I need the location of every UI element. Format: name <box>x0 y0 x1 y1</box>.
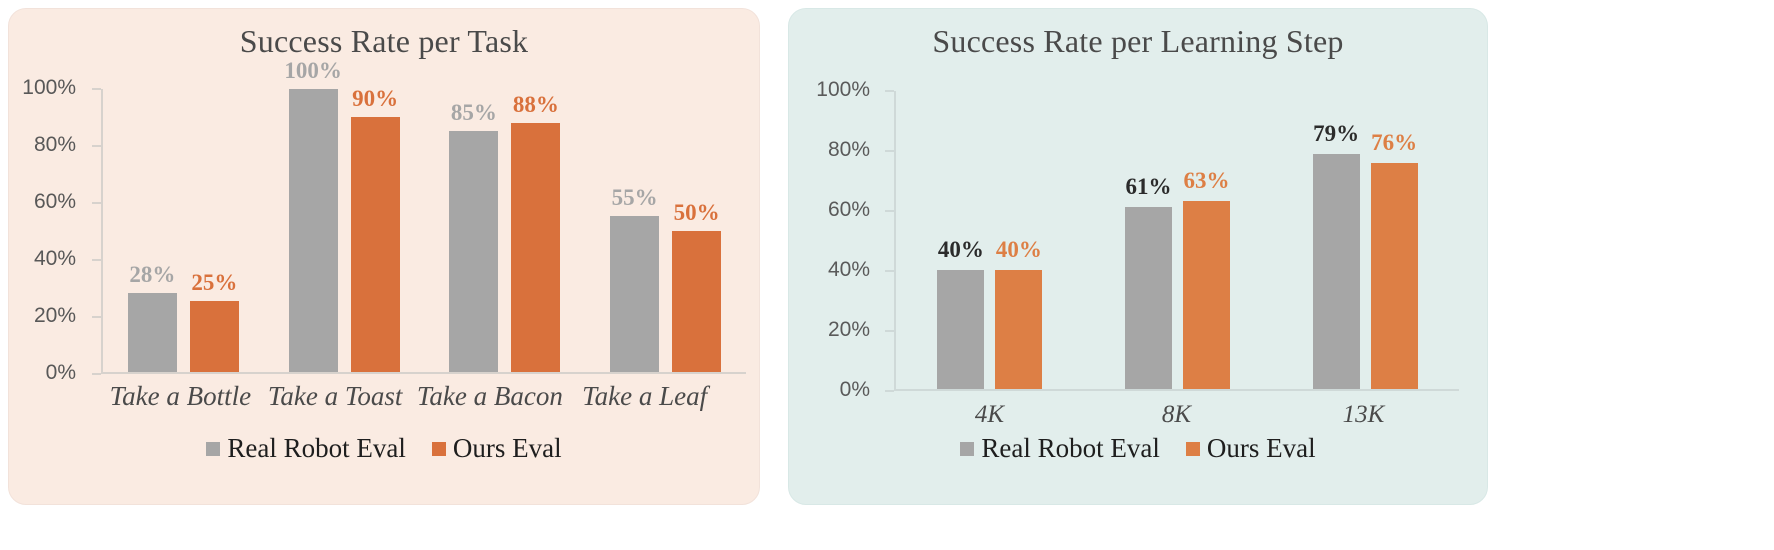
bar-ours-2-right[interactable]: 76% <box>1371 163 1418 389</box>
x-category-labels-right: 4K 8K 13K <box>896 401 1457 429</box>
charts-board: Success Rate per Task 0% 20% 40% 60% 80%… <box>0 0 1774 550</box>
y-tick-label-left-80: 80% <box>34 133 76 157</box>
bar-group-take-a-bacon: 85% 88% <box>425 89 586 372</box>
y-tick-label-left-20: 20% <box>34 304 76 328</box>
legend-right: Real Robot Eval Ours Eval <box>789 433 1487 464</box>
legend-item-ours-eval[interactable]: Ours Eval <box>1186 433 1316 464</box>
plot-area-right: 0% 20% 40% 60% 80% 100% 40% <box>894 91 1459 391</box>
y-tick-right-80: 80% <box>885 150 894 152</box>
bar-group-13k: 79% 76% <box>1271 91 1459 389</box>
y-tick-label-right-0: 0% <box>840 378 870 402</box>
bar-value-label: 85% <box>451 101 497 124</box>
bar-real-0-left[interactable]: 28% <box>128 293 177 372</box>
y-tick-label-left-60: 60% <box>34 190 76 214</box>
bar-groups-left: 28% 25% 100% <box>103 89 746 372</box>
y-tick-left-40: 40% <box>92 259 101 261</box>
bar-value-label: 100% <box>284 59 342 82</box>
legend-swatch-icon <box>960 442 974 456</box>
bar-real-1-left[interactable]: 100% <box>289 89 338 372</box>
legend-label: Real Robot Eval <box>227 433 405 464</box>
y-tick-right-40: 40% <box>885 270 894 272</box>
y-tick-label-right-40: 40% <box>828 258 870 282</box>
bar-group-take-a-toast: 100% 90% <box>264 89 425 372</box>
chart-title-right: Success Rate per Learning Step <box>789 23 1487 60</box>
legend-label: Ours Eval <box>1207 433 1316 464</box>
y-tick-left-0: 0% <box>92 373 101 375</box>
bar-value-label: 63% <box>1184 169 1230 192</box>
bar-real-2-right[interactable]: 79% <box>1313 154 1360 389</box>
bar-value-label: 40% <box>996 238 1042 261</box>
legend-label: Real Robot Eval <box>981 433 1159 464</box>
bar-ours-2-left[interactable]: 88% <box>511 123 560 372</box>
y-tick-label-left-0: 0% <box>46 361 76 385</box>
bar-group-8k: 61% 63% <box>1084 91 1272 389</box>
bar-value-label: 88% <box>513 93 559 116</box>
bar-real-2-left[interactable]: 85% <box>449 131 498 372</box>
y-tick-left-100: 100% <box>92 88 101 90</box>
y-tick-label-right-60: 60% <box>828 198 870 222</box>
legend-item-ours-eval[interactable]: Ours Eval <box>432 433 562 464</box>
bar-value-label: 61% <box>1126 175 1172 198</box>
y-tick-label-right-100: 100% <box>816 78 870 102</box>
legend-item-real-robot-eval[interactable]: Real Robot Eval <box>206 433 405 464</box>
bar-group-4k: 40% 40% <box>896 91 1084 389</box>
x-category-label: Take a Toast <box>258 381 413 412</box>
chart-panel-success-rate-per-learning-step: Success Rate per Learning Step 0% 20% 40… <box>788 8 1488 505</box>
chart-panel-success-rate-per-task: Success Rate per Task 0% 20% 40% 60% 80%… <box>8 8 760 505</box>
x-category-label: Take a Bacon <box>413 381 568 412</box>
bar-value-label: 40% <box>938 238 984 261</box>
y-tick-left-60: 60% <box>92 202 101 204</box>
legend-swatch-icon <box>206 442 220 456</box>
y-tick-left-20: 20% <box>92 316 101 318</box>
bar-value-label: 90% <box>352 87 398 110</box>
bar-real-1-right[interactable]: 61% <box>1125 207 1172 389</box>
y-tick-right-60: 60% <box>885 210 894 212</box>
bar-ours-1-left[interactable]: 90% <box>351 117 400 372</box>
legend-swatch-icon <box>1186 442 1200 456</box>
y-tick-label-left-40: 40% <box>34 247 76 271</box>
y-tick-label-right-80: 80% <box>828 138 870 162</box>
bar-value-label: 25% <box>191 271 237 294</box>
x-category-label: Take a Bottle <box>103 381 258 412</box>
y-tick-left-80: 80% <box>92 145 101 147</box>
x-category-label: Take a Leaf <box>567 381 722 412</box>
y-tick-right-20: 20% <box>885 330 894 332</box>
bar-value-label: 79% <box>1313 122 1359 145</box>
bar-value-label: 55% <box>612 186 658 209</box>
bar-groups-right: 40% 40% 61% 63 <box>896 91 1459 389</box>
legend-item-real-robot-eval[interactable]: Real Robot Eval <box>960 433 1159 464</box>
legend-swatch-icon <box>432 442 446 456</box>
plot-area-left: 0% 20% 40% 60% 80% 100% <box>101 89 746 374</box>
legend-label: Ours Eval <box>453 433 562 464</box>
bar-real-3-left[interactable]: 55% <box>610 216 659 372</box>
bar-value-label: 28% <box>129 263 175 286</box>
bar-ours-3-left[interactable]: 50% <box>672 231 721 373</box>
x-category-label: 4K <box>896 401 1083 429</box>
bar-group-take-a-leaf: 55% 50% <box>585 89 746 372</box>
bar-value-label: 50% <box>674 201 720 224</box>
y-tick-label-right-20: 20% <box>828 318 870 342</box>
bar-real-0-right[interactable]: 40% <box>937 270 984 389</box>
y-tick-right-100: 100% <box>885 90 894 92</box>
legend-left: Real Robot Eval Ours Eval <box>9 433 759 464</box>
x-axis-line-right <box>894 389 1459 391</box>
bar-ours-1-right[interactable]: 63% <box>1183 201 1230 389</box>
x-axis-line-left <box>101 372 746 374</box>
bar-ours-0-right[interactable]: 40% <box>995 270 1042 389</box>
bar-ours-0-left[interactable]: 25% <box>190 301 239 372</box>
x-category-label: 13K <box>1270 401 1457 429</box>
x-category-label: 8K <box>1083 401 1270 429</box>
bar-group-take-a-bottle: 28% 25% <box>103 89 264 372</box>
chart-title-left: Success Rate per Task <box>9 23 759 60</box>
x-category-labels-left: Take a Bottle Take a Toast Take a Bacon … <box>103 381 722 412</box>
y-tick-label-left-100: 100% <box>22 76 76 100</box>
bar-value-label: 76% <box>1371 131 1417 154</box>
y-tick-right-0: 0% <box>885 390 894 392</box>
